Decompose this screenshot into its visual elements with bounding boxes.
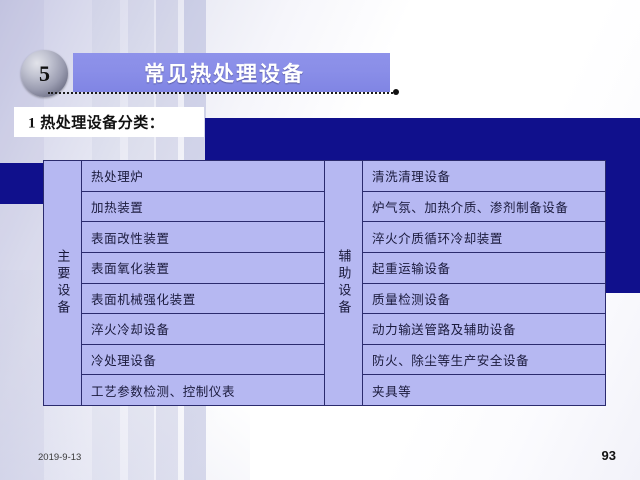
table-row: 防火、除尘等生产安全设备 — [363, 345, 605, 376]
table-row: 淬火冷却设备 — [82, 314, 324, 345]
group-rows: 清洗清理设备 炉气氛、加热介质、渗剂制备设备 淬火介质循环冷却装置 起重运输设备… — [363, 161, 605, 405]
slide-title-bar: 常见热处理设备 — [73, 53, 390, 92]
table-row: 夹具等 — [363, 375, 605, 405]
navy-accent-block-left — [0, 163, 44, 204]
table-row: 冷处理设备 — [82, 345, 324, 376]
page-title: 常见热处理设备 — [73, 58, 376, 88]
group-header-cell: 辅助设备 — [325, 161, 363, 405]
table-row: 淬火介质循环冷却装置 — [363, 222, 605, 253]
table-row: 工艺参数检测、控制仪表 — [82, 375, 324, 405]
table-group-auxiliary-equipment: 辅助设备 清洗清理设备 炉气氛、加热介质、渗剂制备设备 淬火介质循环冷却装置 起… — [325, 161, 605, 405]
table-row: 加热装置 — [82, 192, 324, 223]
table-row: 表面改性装置 — [82, 222, 324, 253]
table-row: 表面氧化装置 — [82, 253, 324, 284]
table-row: 清洗清理设备 — [363, 161, 605, 192]
table-row: 炉气氛、加热介质、渗剂制备设备 — [363, 192, 605, 223]
group-header-label: 主要设备 — [56, 249, 70, 317]
footer-date: 2019-9-13 — [38, 452, 81, 463]
title-rule-end-dot — [393, 89, 399, 95]
table-row: 热处理炉 — [82, 161, 324, 192]
subtitle-band: 1 热处理设备分类： — [14, 107, 204, 137]
group-rows: 热处理炉 加热装置 表面改性装置 表面氧化装置 表面机械强化装置 淬火冷却设备 … — [82, 161, 324, 405]
footer-page-number: 93 — [602, 448, 616, 463]
table-row: 动力输送管路及辅助设备 — [363, 314, 605, 345]
navy-accent-block-main — [205, 118, 640, 164]
table-row: 质量检测设备 — [363, 284, 605, 315]
section-number-label: 5 — [21, 61, 68, 87]
slide-canvas: 5 常见热处理设备 1 热处理设备分类： 主要设备 热处理炉 加热装置 表面改性… — [0, 0, 640, 480]
table-row: 表面机械强化装置 — [82, 284, 324, 315]
group-header-cell: 主要设备 — [44, 161, 82, 405]
navy-accent-block-right — [606, 118, 640, 293]
section-number-badge: 5 — [21, 50, 68, 97]
group-header-label: 辅助设备 — [337, 249, 351, 317]
title-dotted-rule — [48, 92, 396, 94]
subtitle-label: 1 热处理设备分类： — [28, 112, 164, 133]
table-row: 起重运输设备 — [363, 253, 605, 284]
equipment-classification-table: 主要设备 热处理炉 加热装置 表面改性装置 表面氧化装置 表面机械强化装置 淬火… — [43, 160, 606, 406]
table-group-main-equipment: 主要设备 热处理炉 加热装置 表面改性装置 表面氧化装置 表面机械强化装置 淬火… — [44, 161, 325, 405]
